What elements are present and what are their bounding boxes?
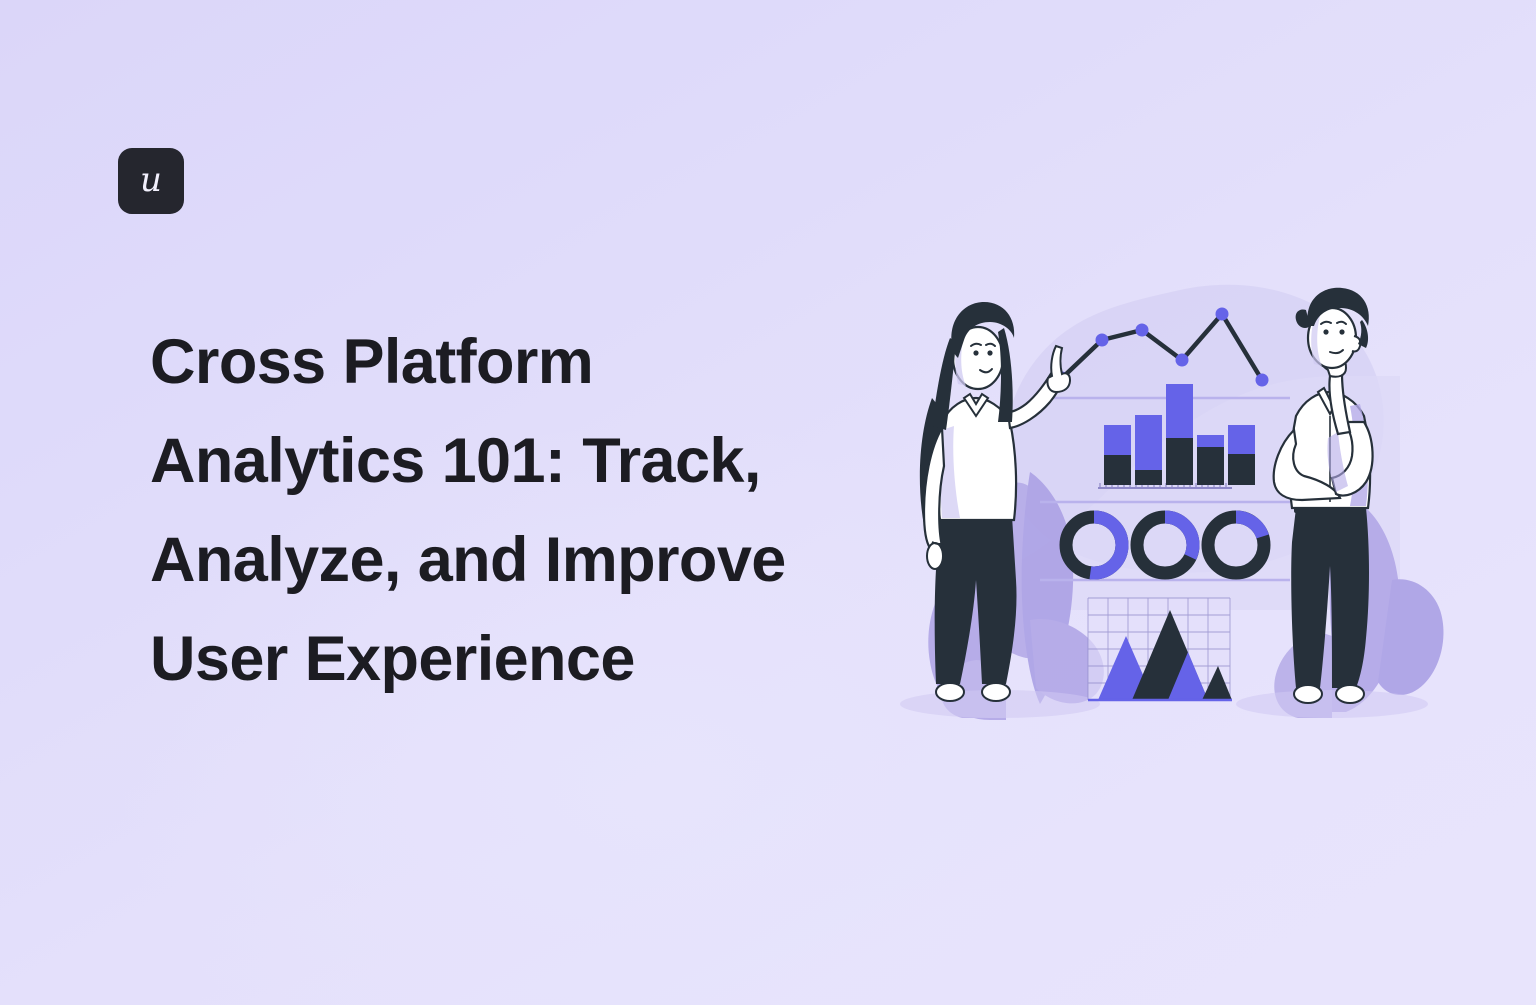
- mountain-area-chart: [1088, 598, 1232, 700]
- analytics-dashboard-illustration: [880, 280, 1450, 720]
- line-point: [1216, 308, 1229, 321]
- logo-square: u: [118, 148, 184, 214]
- line-point: [1176, 354, 1189, 367]
- bar-group: [1135, 415, 1162, 485]
- logo-letter-u: u: [140, 163, 162, 197]
- userpilot-logo[interactable]: u: [118, 148, 184, 214]
- page-title: Cross Platform Analytics 101: Track, Ana…: [150, 313, 880, 709]
- line-point: [1136, 324, 1149, 337]
- line-point: [1096, 334, 1109, 347]
- blog-hero-banner: u Cross Platform Analytics 101: Track, A…: [0, 0, 1536, 1005]
- bar-group: [1104, 425, 1131, 485]
- bar-group: [1228, 425, 1255, 485]
- line-point: [1256, 374, 1269, 387]
- bar-group: [1197, 435, 1224, 485]
- bar-group: [1166, 384, 1193, 485]
